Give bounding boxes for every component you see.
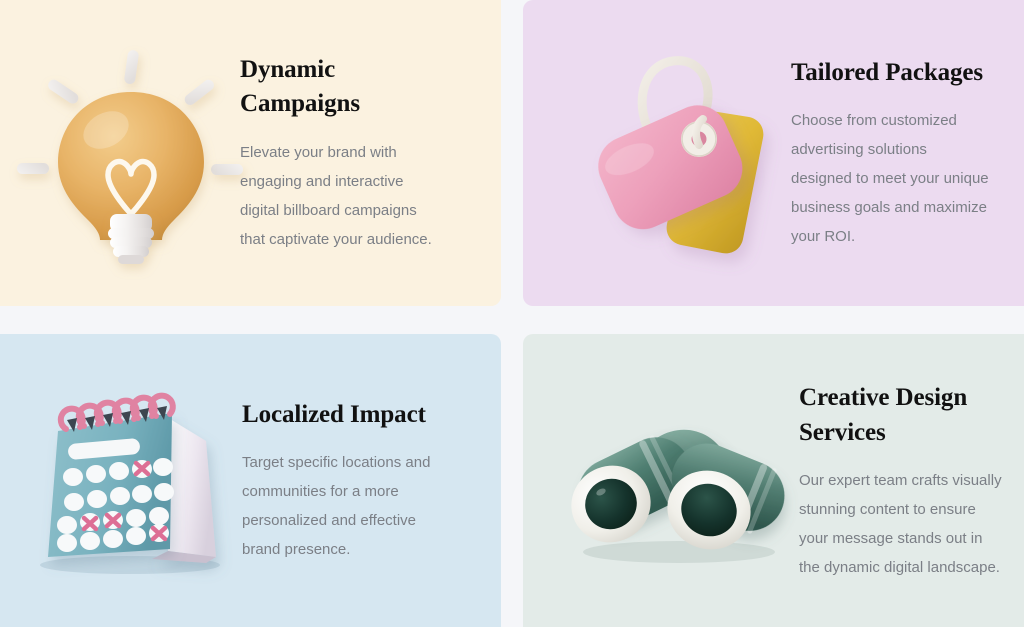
desk-calendar-3d-icon: [20, 381, 242, 581]
price-tags-3d-icon: [575, 43, 791, 263]
card-description: Our expert team crafts visually stunning…: [799, 466, 1002, 582]
feature-card-dynamic-campaigns[interactable]: Dynamic Campaigns Elevate your brand wit…: [0, 0, 501, 306]
card-copy: Dynamic Campaigns Elevate your brand wit…: [240, 53, 501, 254]
card-copy: Creative Design Services Our expert team…: [799, 380, 1024, 582]
feature-card-tailored-packages[interactable]: Tailored Packages Choose from customized…: [523, 0, 1024, 306]
card-title: Tailored Packages: [791, 56, 998, 90]
card-description: Elevate your brand with engaging and int…: [240, 138, 432, 254]
feature-card-localized-impact[interactable]: Localized Impact Target specific locatio…: [0, 334, 501, 627]
card-description: Choose from customized advertising solut…: [791, 106, 991, 251]
feature-card-creative-design-services[interactable]: Creative Design Services Our expert team…: [523, 334, 1024, 627]
feature-card-grid: Dynamic Campaigns Elevate your brand wit…: [0, 0, 1024, 627]
binoculars-3d-icon: [561, 386, 799, 576]
card-title: Creative Design Services: [799, 380, 1002, 450]
card-copy: Tailored Packages Choose from customized…: [791, 56, 1024, 251]
card-title: Dynamic Campaigns: [240, 53, 455, 121]
lightbulb-3d-icon: [22, 38, 240, 268]
card-description: Target specific locations and communitie…: [242, 448, 442, 564]
card-copy: Localized Impact Target specific locatio…: [242, 398, 501, 564]
card-title: Localized Impact: [242, 398, 461, 432]
